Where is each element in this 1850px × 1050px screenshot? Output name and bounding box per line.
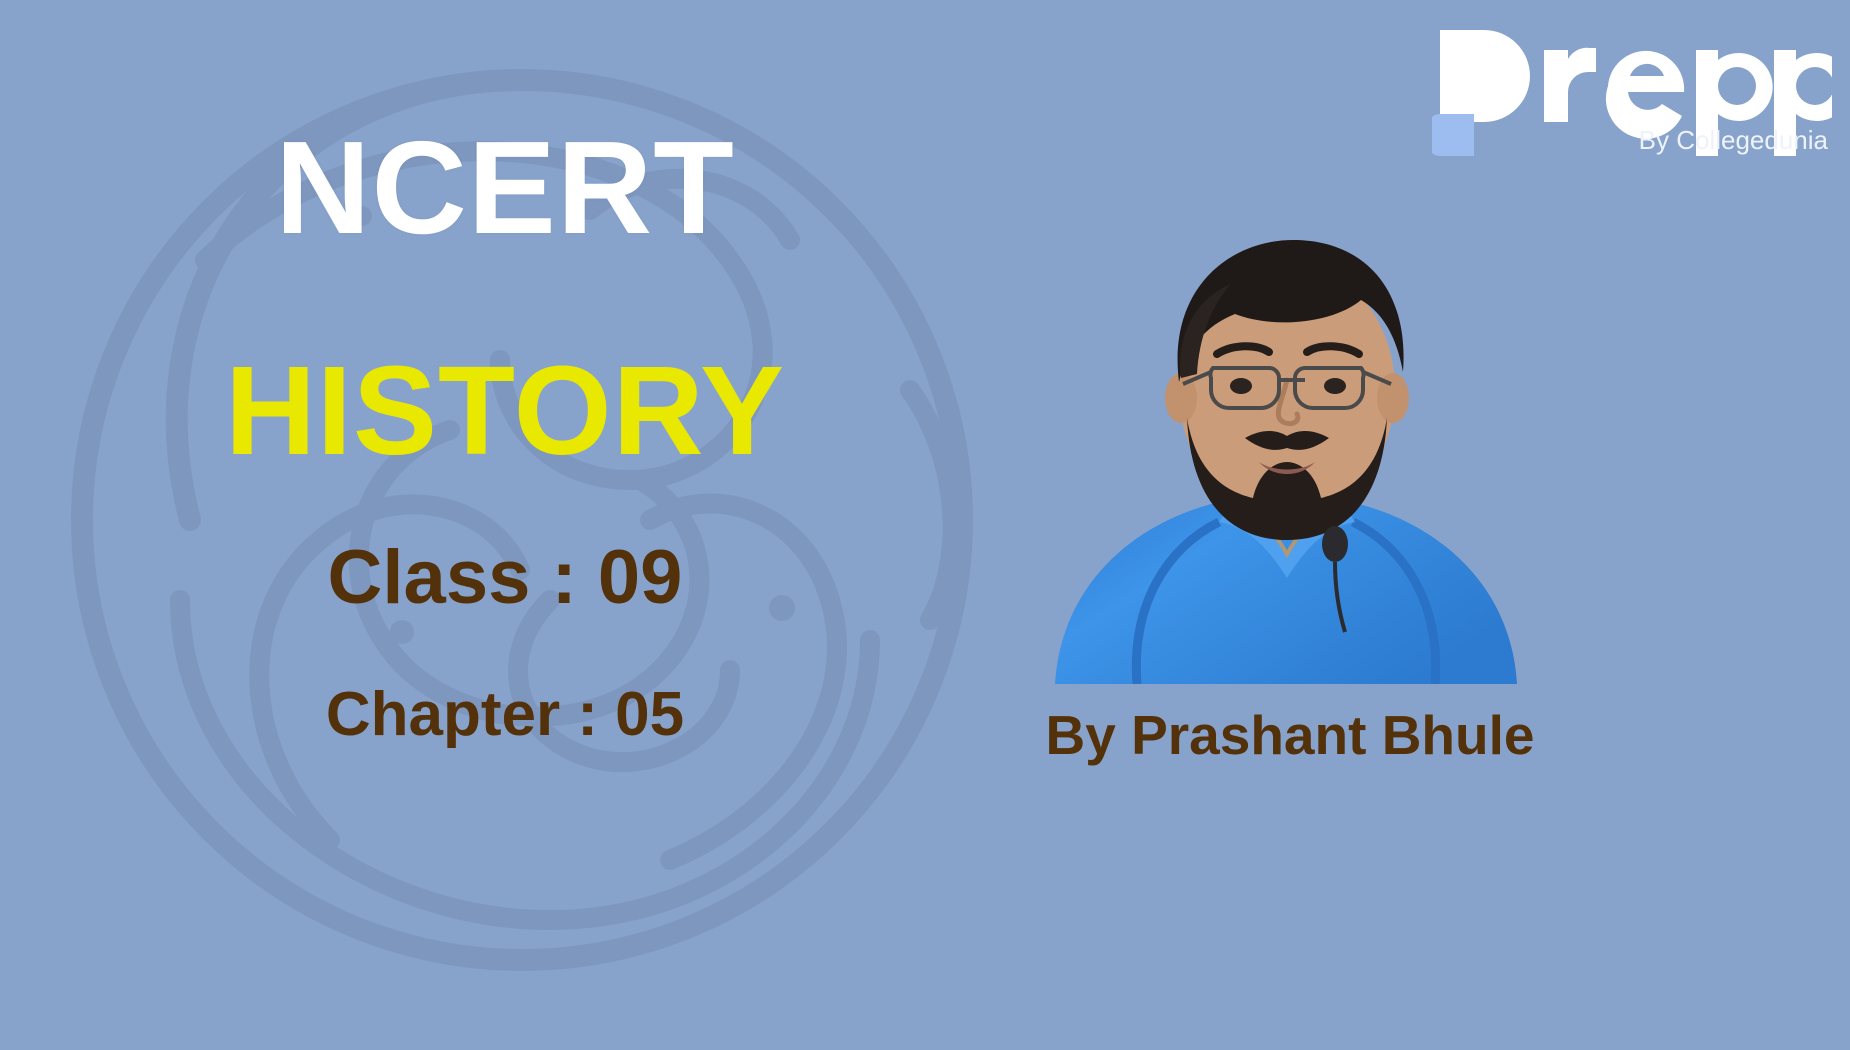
- subject-title: HISTORY: [0, 348, 1010, 474]
- page-title: NCERT: [0, 122, 1010, 254]
- title-block: NCERT HISTORY Class : 09 Chapter : 05: [0, 0, 1010, 1050]
- chapter-label: Chapter : 05: [0, 684, 1010, 746]
- class-label: Class : 09: [0, 540, 1010, 616]
- lecture-title-slide: NCERT HISTORY Class : 09 Chapter : 05 By…: [0, 0, 1850, 1050]
- logo-tagline: By Collegedunia: [1639, 125, 1829, 155]
- prepp-logo: By Collegedunia: [1432, 16, 1832, 156]
- presenter-photo: [1005, 222, 1565, 684]
- presenter-name: By Prashant Bhule: [1010, 708, 1570, 763]
